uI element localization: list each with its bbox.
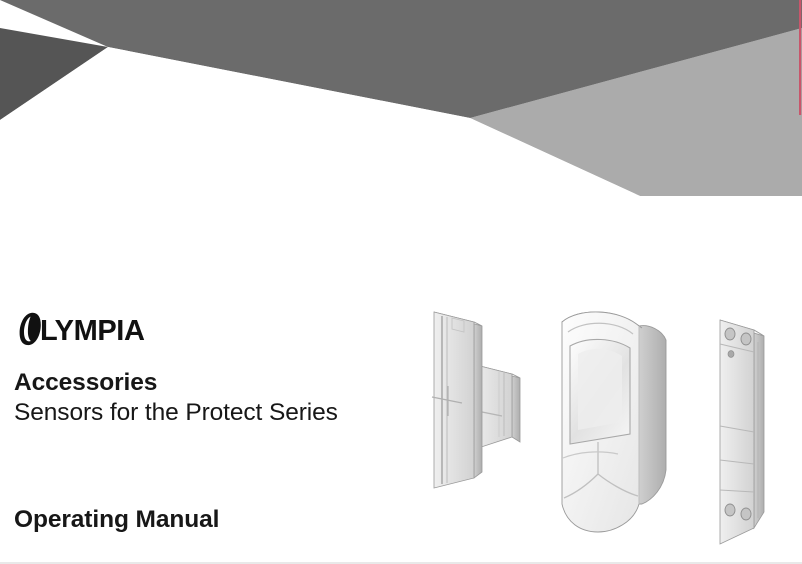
header-banner [0,0,802,200]
magnet-block-side-face [512,374,520,442]
red-edge-accent-bar [799,0,801,115]
contact-sensor-side-face [474,322,482,478]
slim-sensor-screw-hole-top-right [741,333,751,345]
product-category-heading: Accessories [14,368,414,398]
product-subtitle-text: Sensors for the Protect Series [14,398,414,428]
olympia-logo: LYMPIA [14,312,172,346]
pir-side-face [639,326,666,504]
slim-sensor-led-indicator [728,351,734,358]
slim-sensor-screw-hole-bottom-left [725,504,735,516]
slim-sensor-side-face [754,330,764,528]
contact-sensor-front-face [434,312,474,488]
door-window-contact-sensor-illustration [432,312,520,488]
pir-lens-highlight [578,349,622,430]
product-illustration-group [402,282,802,564]
pir-motion-detector-illustration [562,312,666,532]
cover-text-block: LYMPIA Accessories Sensors for the Prote… [14,312,414,429]
logo-wordmark-text: LYMPIA [40,315,145,346]
document-type-heading: Operating Manual [14,506,219,534]
slim-sensor-screw-hole-bottom-right [741,508,751,520]
logo-slanted-o-icon [20,313,41,345]
manual-cover-page: LYMPIA Accessories Sensors for the Prote… [0,0,802,564]
roller-shutter-contact-sensor-illustration [720,320,764,544]
slim-sensor-screw-hole-top-left [725,328,735,340]
